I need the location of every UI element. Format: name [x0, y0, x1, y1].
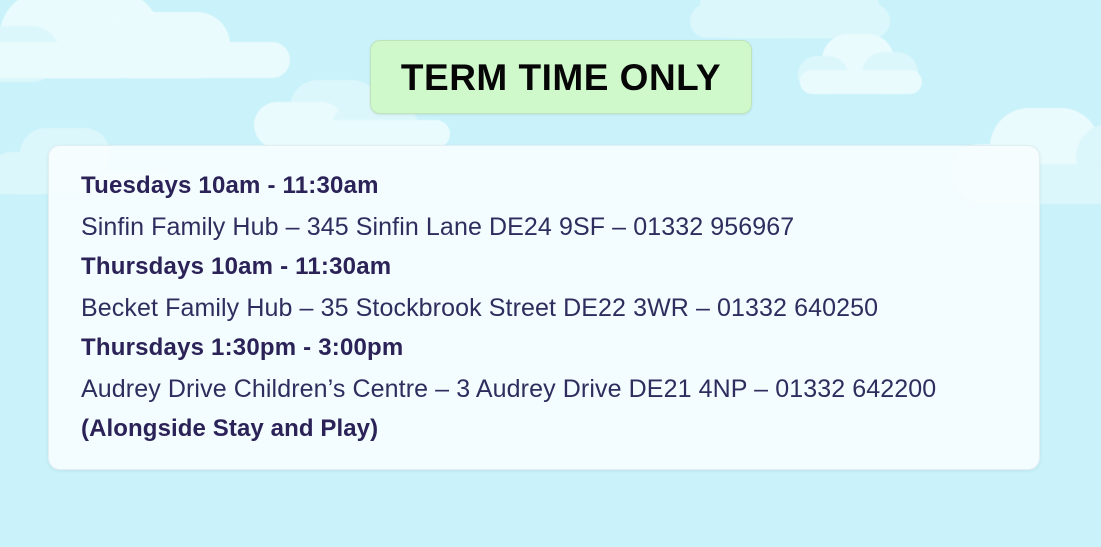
cloud-top-left [0, 0, 360, 78]
session-time: Tuesdays 10am - 11:30am [81, 166, 1019, 207]
session-note: (Alongside Stay and Play) [81, 409, 1019, 450]
cloud-mid-right [800, 34, 930, 94]
poster-canvas: TERM TIME ONLY Tuesdays 10am - 11:30am S… [0, 0, 1101, 547]
term-time-banner: TERM TIME ONLY [370, 40, 752, 114]
session-location: Audrey Drive Children’s Centre – 3 Audre… [81, 369, 1019, 410]
session-list: Tuesdays 10am - 11:30am Sinfin Family Hu… [81, 166, 1019, 450]
session-location: Becket Family Hub – 35 Stockbrook Street… [81, 288, 1019, 329]
session-location: Sinfin Family Hub – 345 Sinfin Lane DE24… [81, 207, 1019, 248]
session-time: Thursdays 10am - 11:30am [81, 247, 1019, 288]
session-time: Thursdays 1:30pm - 3:00pm [81, 328, 1019, 369]
session-info-card: Tuesdays 10am - 11:30am Sinfin Family Hu… [48, 145, 1040, 470]
term-time-banner-label: TERM TIME ONLY [401, 59, 721, 96]
